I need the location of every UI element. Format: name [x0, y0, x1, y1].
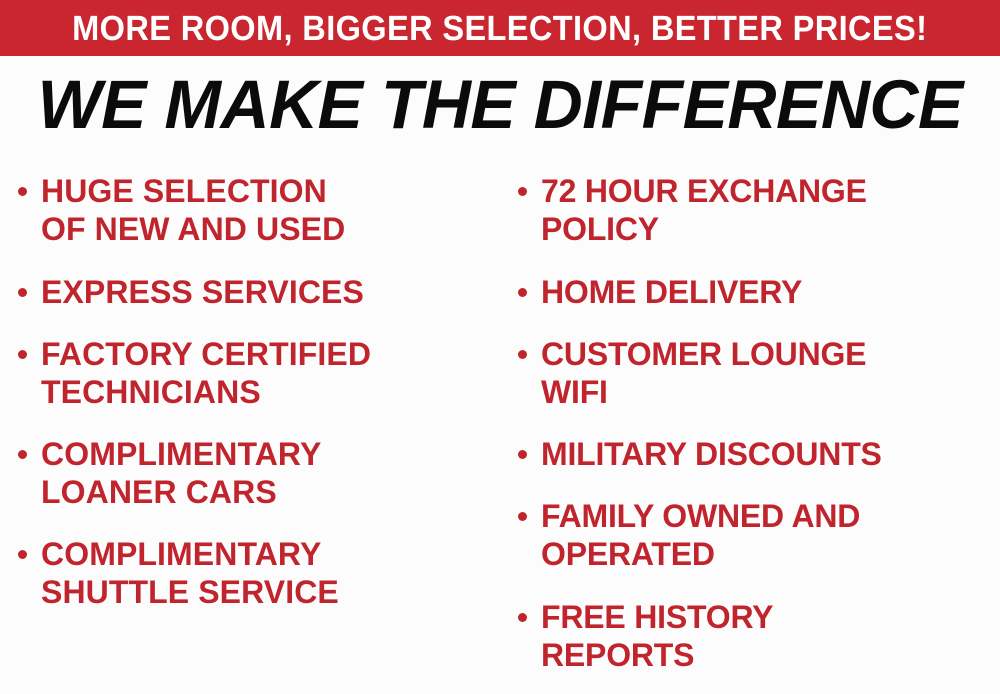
bullet-dot-icon	[518, 512, 527, 521]
list-item-label: FREE HISTORY REPORTS	[541, 598, 1000, 674]
list-item: FAMILY OWNED AND OPERATED	[518, 497, 1000, 573]
list-item-label: HOME DELIVERY	[541, 273, 1000, 311]
promo-banner: MORE ROOM, BIGGER SELECTION, BETTER PRIC…	[0, 0, 1000, 56]
bullet-dot-icon	[518, 350, 527, 359]
bullet-dot-icon	[518, 187, 527, 196]
list-item-label: EXPRESS SERVICES	[41, 273, 496, 311]
bullet-dot-icon	[18, 288, 27, 297]
list-item-label: COMPLIMENTARY SHUTTLE SERVICE	[41, 535, 496, 611]
bullet-dot-icon	[18, 350, 27, 359]
bullet-dot-icon	[18, 450, 27, 459]
list-item: EXPRESS SERVICES	[18, 273, 496, 311]
benefits-column-right: 72 HOUR EXCHANGE POLICY HOME DELIVERY CU…	[518, 160, 1000, 674]
benefits-columns: HUGE SELECTION OF NEW AND USED EXPRESS S…	[0, 160, 1000, 694]
list-item: FREE HISTORY REPORTS	[518, 598, 1000, 674]
headline: WE MAKE THE DIFFERENCE	[0, 69, 1000, 139]
list-item: HOME DELIVERY	[518, 273, 1000, 311]
list-item: 72 HOUR EXCHANGE POLICY	[518, 172, 1000, 248]
bullet-dot-icon	[518, 288, 527, 297]
list-item: MILITARY DISCOUNTS	[518, 435, 1000, 473]
bullet-dot-icon	[518, 450, 527, 459]
headline-text: WE MAKE THE DIFFERENCE	[37, 70, 962, 139]
list-item: FACTORY CERTIFIED TECHNICIANS	[18, 335, 496, 411]
list-item-label: COMPLIMENTARY LOANER CARS	[41, 435, 496, 511]
benefits-column-left: HUGE SELECTION OF NEW AND USED EXPRESS S…	[18, 160, 496, 611]
list-item: CUSTOMER LOUNGE WIFI	[518, 335, 1000, 411]
list-item-label: 72 HOUR EXCHANGE POLICY	[541, 172, 1000, 248]
bullet-dot-icon	[18, 187, 27, 196]
list-item: COMPLIMENTARY LOANER CARS	[18, 435, 496, 511]
bullet-dot-icon	[18, 550, 27, 559]
list-item: HUGE SELECTION OF NEW AND USED	[18, 172, 496, 248]
list-item-label: FAMILY OWNED AND OPERATED	[541, 497, 1000, 573]
bullet-dot-icon	[518, 613, 527, 622]
list-item-label: HUGE SELECTION OF NEW AND USED	[41, 172, 496, 248]
list-item: COMPLIMENTARY SHUTTLE SERVICE	[18, 535, 496, 611]
promo-banner-text: MORE ROOM, BIGGER SELECTION, BETTER PRIC…	[72, 11, 927, 46]
list-item-label: FACTORY CERTIFIED TECHNICIANS	[41, 335, 496, 411]
list-item-label: MILITARY DISCOUNTS	[541, 435, 1000, 473]
list-item-label: CUSTOMER LOUNGE WIFI	[541, 335, 1000, 411]
